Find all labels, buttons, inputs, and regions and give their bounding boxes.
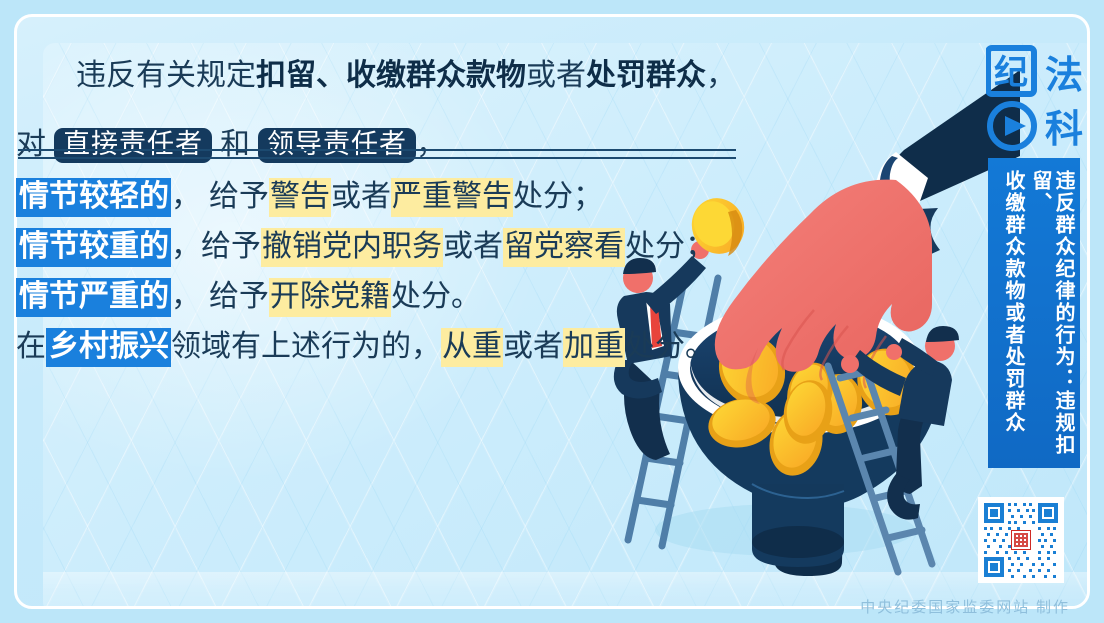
- line3-give: 给予: [209, 182, 269, 212]
- line6-highlight-blue: 乡村振兴: [46, 328, 171, 367]
- vertical-banner-column-left: 收缴群众款物或者处罚群众: [1001, 170, 1024, 458]
- line6-highlight-yellow-1: 从重: [441, 328, 503, 367]
- body-line-1: 违反有关规定扣留、收缴群众款物或者处罚群众，: [16, 64, 676, 118]
- brand-logo-jifa-baike[interactable]: 纪 法 科: [986, 44, 1090, 152]
- logo-char-ji: 纪: [994, 54, 1028, 92]
- line3-mid: 或者: [331, 182, 391, 212]
- body-text-block: 违反有关规定扣留、收缴群众款物或者处罚群众， 对 直接责任者 和 领导责任者 ，…: [16, 64, 676, 372]
- line5-tail: 处分。: [391, 282, 481, 312]
- line1-seg-plain-2: 或者: [526, 59, 586, 92]
- line4-highlight-yellow-2: 留党察看: [503, 228, 625, 267]
- line4-mid: 或者: [443, 232, 503, 262]
- qr-center-seal: [1011, 530, 1031, 550]
- logo-char-fa: 法: [1045, 55, 1083, 97]
- line5-give: 给予: [209, 282, 269, 312]
- body-line-6: 在乡村振兴领域有上述行为的， 从重或者加重处分。: [16, 322, 676, 372]
- line6-prefix: 在: [16, 332, 46, 362]
- line5-highlight-blue: 情节严重的: [16, 278, 171, 317]
- line3-highlight-yellow-1: 警告: [269, 178, 331, 217]
- footer-credit: 中央纪委国家监委网站 制作: [860, 596, 1070, 617]
- line6-tail: 处分。: [625, 332, 715, 362]
- line5-comma: ，: [171, 282, 201, 312]
- line4-comma: ，: [171, 232, 201, 262]
- body-line-3: 情节较轻的， 给予警告或者严重警告处分；: [16, 172, 676, 222]
- line3-comma: ，: [171, 182, 201, 212]
- line3-highlight-yellow-2: 严重警告: [391, 178, 513, 217]
- poster-canvas: 违反有关规定扣留、收缴群众款物或者处罚群众， 对 直接责任者 和 领导责任者 ，…: [0, 0, 1104, 623]
- line5-highlight-yellow-1: 开除党籍: [269, 278, 391, 317]
- body-line-5: 情节严重的， 给予开除党籍处分。: [16, 272, 676, 322]
- body-line-4: 情节较重的， 给予撤销党内职务或者留党察看处分；: [16, 222, 676, 272]
- line4-highlight-blue: 情节较重的: [16, 228, 171, 267]
- line1-seg-bold-2: 处罚群众: [586, 59, 706, 92]
- line4-highlight-yellow-1: 撤销党内职务: [261, 228, 443, 267]
- line4-tail: 处分；: [625, 232, 715, 262]
- line6-mid: 或者: [503, 332, 563, 362]
- vertical-title-banner: 违反群众纪律的行为：违规扣留、 收缴群众款物或者处罚群众: [988, 158, 1080, 468]
- line3-tail: 处分；: [513, 182, 603, 212]
- qr-code-pattern: [982, 501, 1060, 579]
- line1-double-underline: [18, 149, 736, 159]
- line1-underline-wrap: 违反有关规定扣留、收缴群众款物或者处罚群众，: [16, 31, 736, 151]
- line3-highlight-blue: 情节较轻的: [16, 178, 171, 217]
- line6-after: 领域有上述行为的，: [171, 332, 441, 362]
- line1-seg-bold-1: 扣留、收缴群众款物: [256, 59, 526, 92]
- play-button-icon[interactable]: [1005, 116, 1026, 136]
- line6-highlight-yellow-2: 加重: [563, 328, 625, 367]
- line1-seg-plain-3: ，: [706, 59, 736, 92]
- vertical-banner-column-right: 违反群众纪律的行为：违规扣留、: [1028, 170, 1074, 458]
- line1-seg-plain-1: 违反有关规定: [76, 59, 256, 92]
- logo-char-ke: 科: [1045, 109, 1083, 151]
- line4-give: 给予: [201, 232, 261, 262]
- qr-code[interactable]: [978, 497, 1064, 583]
